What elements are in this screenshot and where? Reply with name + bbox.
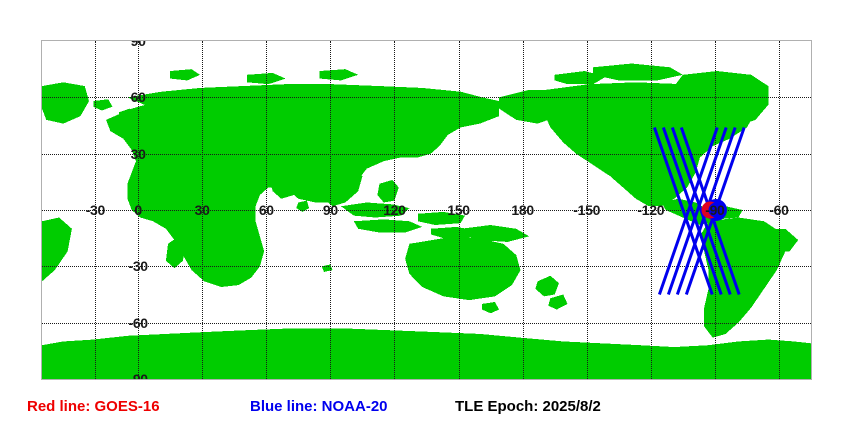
noaa20-ground-track-layer [42, 41, 811, 379]
legend-noaa20: Blue line: NOAA-20 [250, 399, 388, 414]
legend: Red line: GOES-16 Blue line: NOAA-20 TLE… [0, 394, 850, 422]
legend-goes16: Red line: GOES-16 [27, 399, 160, 414]
world-map-panel: -30 0 30 60 90 120 150 180 -150 -120 -90… [41, 40, 812, 380]
goes16-marker-overlap-mask [709, 203, 724, 218]
legend-tle-epoch: TLE Epoch: 2025/8/2 [455, 399, 601, 414]
